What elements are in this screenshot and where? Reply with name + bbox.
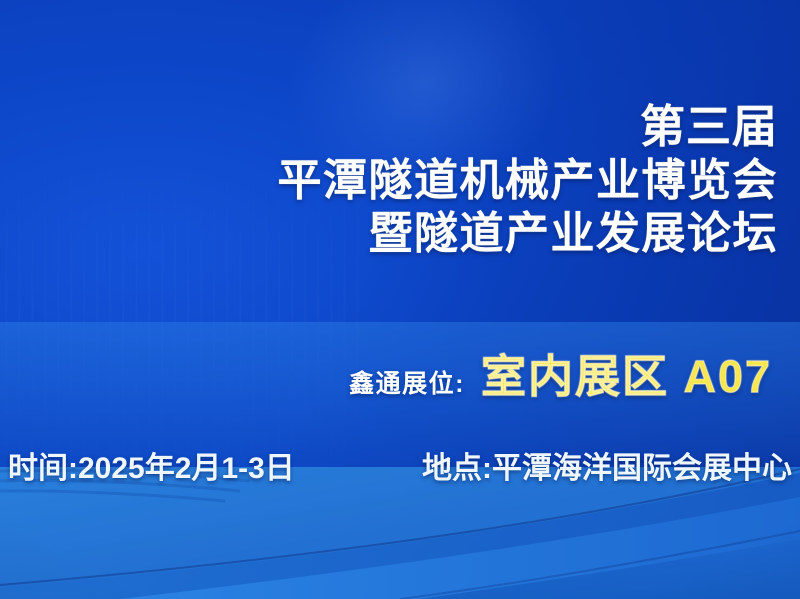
title-line-main: 平潭隧道机械产业博览会 [0, 159, 778, 212]
title-line-sub: 暨隧道产业发展论坛 [0, 212, 778, 256]
poster-title-block: 第三届 平潭隧道机械产业博览会 暨隧道产业发展论坛 [0, 104, 778, 256]
poster-footer-row: 时间:2025年2月1-3日 地点:平潭海洋国际会展中心 [8, 443, 792, 487]
booth-label: 鑫通展位: [349, 364, 465, 400]
booth-info-row: 鑫通展位: 室内展区 A07 [0, 340, 772, 405]
event-venue: 地点:平潭海洋国际会展中心 [422, 443, 792, 487]
title-line-edition: 第三届 [0, 104, 778, 159]
exhibition-poster: 第三届 平潭隧道机械产业博览会 暨隧道产业发展论坛 鑫通展位: 室内展区 A07… [0, 0, 800, 599]
booth-number: 室内展区 A07 [481, 340, 772, 405]
event-date: 时间:2025年2月1-3日 [8, 443, 295, 487]
